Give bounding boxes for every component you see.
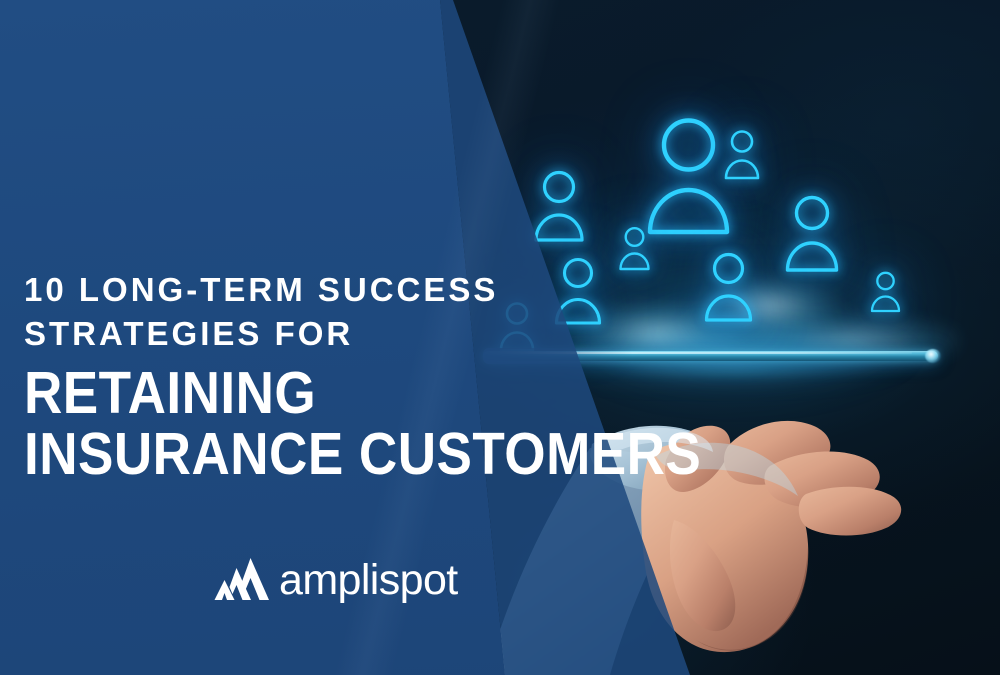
neon-person-icon-6 — [781, 192, 843, 272]
eyebrow-line-2: STRATEGIES FOR — [24, 312, 644, 356]
eyebrow-line-1: 10 LONG-TERM SUCCESS — [24, 268, 644, 312]
neon-person-icon-3 — [722, 128, 762, 180]
amplispot-wordmark: amplispot — [279, 559, 458, 602]
neon-person-icon-1 — [530, 168, 588, 242]
headline-line-2: INSURANCE CUSTOMERS — [24, 424, 582, 484]
amplispot-mountain-mark-icon — [212, 556, 270, 602]
headline-line-1: RETAINING — [24, 363, 582, 423]
amplispot-logo[interactable]: amplispot — [212, 556, 458, 602]
blog-cover-image: 10 LONG-TERM SUCCESS STRATEGIES FOR RETA… — [0, 0, 1000, 675]
neon-person-icon-8 — [869, 270, 902, 313]
headline-block: 10 LONG-TERM SUCCESS STRATEGIES FOR RETA… — [24, 268, 644, 484]
neon-person-icon-7 — [701, 250, 756, 322]
neon-person-icon-4 — [617, 225, 652, 271]
